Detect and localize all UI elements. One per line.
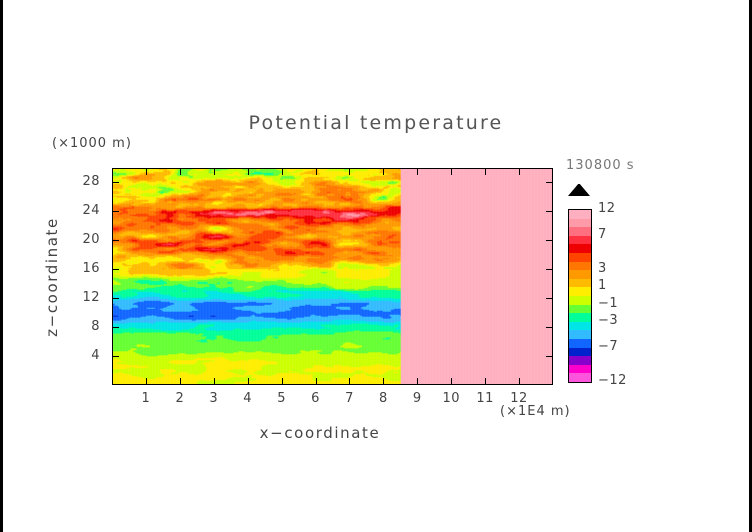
- x-axis-tickmark: [214, 168, 215, 175]
- timestamp-label: 130800 s: [566, 158, 635, 173]
- x-axis-tick-label: 1: [131, 391, 161, 406]
- z-axis-tick-label: 4: [70, 348, 100, 363]
- z-axis-tickmark: [112, 240, 119, 241]
- page-title: Potential temperature: [0, 112, 752, 134]
- x-axis-tickmark: [383, 378, 384, 385]
- x-axis-tick-label: 12: [504, 391, 534, 406]
- x-axis-tick-label: 9: [402, 391, 432, 406]
- x-axis-tick-label: 10: [436, 391, 466, 406]
- colorbar-tick-label: −7: [598, 339, 618, 354]
- z-axis-tickmark: [112, 211, 119, 212]
- colorbar-band: [569, 236, 591, 245]
- z-axis-tickmark: [546, 240, 553, 241]
- colorbar-tick-label: −12: [598, 373, 627, 388]
- colorbar-band: [569, 373, 591, 382]
- x-axis-tickmark: [180, 168, 181, 175]
- z-axis-tick-label: 28: [70, 174, 100, 189]
- z-axis-tickmark: [112, 269, 119, 270]
- z-axis-tickmark: [546, 356, 553, 357]
- z-axis-title: z−coordinate: [43, 197, 61, 357]
- x-axis-tickmark: [248, 168, 249, 175]
- x-axis-tickmark: [282, 378, 283, 385]
- x-axis-tickmark: [146, 378, 147, 385]
- z-axis-tickmark: [546, 182, 553, 183]
- x-axis-tickmark: [282, 168, 283, 175]
- x-axis-tick-label: 11: [470, 391, 500, 406]
- colorbar-tick-label: 3: [598, 261, 607, 276]
- z-axis-tickmark: [112, 182, 119, 183]
- colorbar-band: [569, 305, 591, 314]
- z-axis-tickmark: [546, 269, 553, 270]
- x-axis-tickmark: [316, 378, 317, 385]
- colorbar-band: [569, 356, 591, 365]
- x-axis-tickmark: [349, 378, 350, 385]
- z-axis-tick-label: 24: [70, 203, 100, 218]
- canvas-left-border: [0, 0, 3, 532]
- z-axis-tick-label: 8: [70, 319, 100, 334]
- z-axis-tick-label: 12: [70, 290, 100, 305]
- z-axis-tickmark: [112, 356, 119, 357]
- colorbar-tick-label: −1: [598, 296, 618, 311]
- colorbar: 12731−1−3−7−12: [568, 196, 592, 383]
- z-axis-tickmark: [546, 327, 553, 328]
- x-axis-tickmark: [417, 378, 418, 385]
- x-axis-tickmark: [451, 168, 452, 175]
- x-axis-tickmark: [485, 378, 486, 385]
- z-axis-tickmark: [546, 298, 553, 299]
- colorbar-band: [569, 244, 591, 253]
- colorbar-band: [569, 296, 591, 305]
- colorbar-band: [569, 219, 591, 228]
- colorbar-arrow-cap-icon: [568, 196, 590, 209]
- colorbar-band: [569, 365, 591, 374]
- z-axis-unit-label: (×1000 m): [52, 136, 132, 151]
- colorbar-tick-label: 1: [598, 278, 607, 293]
- z-axis-tick-label: 16: [70, 261, 100, 276]
- colorbar-tick-label: −3: [598, 313, 618, 328]
- z-axis-tickmark: [112, 298, 119, 299]
- colorbar-band: [569, 339, 591, 348]
- x-axis-tickmark: [349, 168, 350, 175]
- x-axis-tick-label: 4: [233, 391, 263, 406]
- x-axis-tickmark: [214, 378, 215, 385]
- x-axis-tickmark: [519, 378, 520, 385]
- colorbar-band: [569, 313, 591, 322]
- z-axis-tick-label: 20: [70, 232, 100, 247]
- colorbar-band: [569, 253, 591, 262]
- colorbar-band: [569, 227, 591, 236]
- colorbar-band: [569, 322, 591, 331]
- x-axis-tickmark: [417, 168, 418, 175]
- x-axis-tickmark: [248, 378, 249, 385]
- x-axis-tickmark: [383, 168, 384, 175]
- z-axis-tickmark: [112, 327, 119, 328]
- z-axis-tickmark: [546, 211, 553, 212]
- colorbar-band: [569, 210, 591, 219]
- x-axis-title: x−coordinate: [0, 424, 640, 442]
- x-axis-tick-label: 3: [199, 391, 229, 406]
- x-axis-tickmark: [451, 378, 452, 385]
- colorbar-tick-label: 12: [598, 201, 616, 216]
- x-axis-unit-label: (×1E4 m): [500, 404, 571, 419]
- x-axis-tick-label: 5: [267, 391, 297, 406]
- x-axis-tick-label: 7: [334, 391, 364, 406]
- x-axis-tickmark: [180, 378, 181, 385]
- x-axis-tickmark: [146, 168, 147, 175]
- colorbar-band: [569, 287, 591, 296]
- colorbar-band: [569, 348, 591, 357]
- colorbar-band: [569, 270, 591, 279]
- x-axis-tick-label: 6: [301, 391, 331, 406]
- colorbar-gradient-strip: [568, 209, 592, 383]
- x-axis-tickmark: [316, 168, 317, 175]
- colorbar-band: [569, 279, 591, 288]
- colorbar-band: [569, 262, 591, 271]
- colorbar-band: [569, 330, 591, 339]
- x-axis-tick-label: 8: [368, 391, 398, 406]
- x-axis-tickmark: [519, 168, 520, 175]
- contour-plot-area: [112, 168, 553, 385]
- temperature-field-heatmap: [113, 169, 552, 384]
- x-axis-tickmark: [485, 168, 486, 175]
- colorbar-tick-label: 7: [598, 227, 607, 242]
- x-axis-tick-label: 2: [165, 391, 195, 406]
